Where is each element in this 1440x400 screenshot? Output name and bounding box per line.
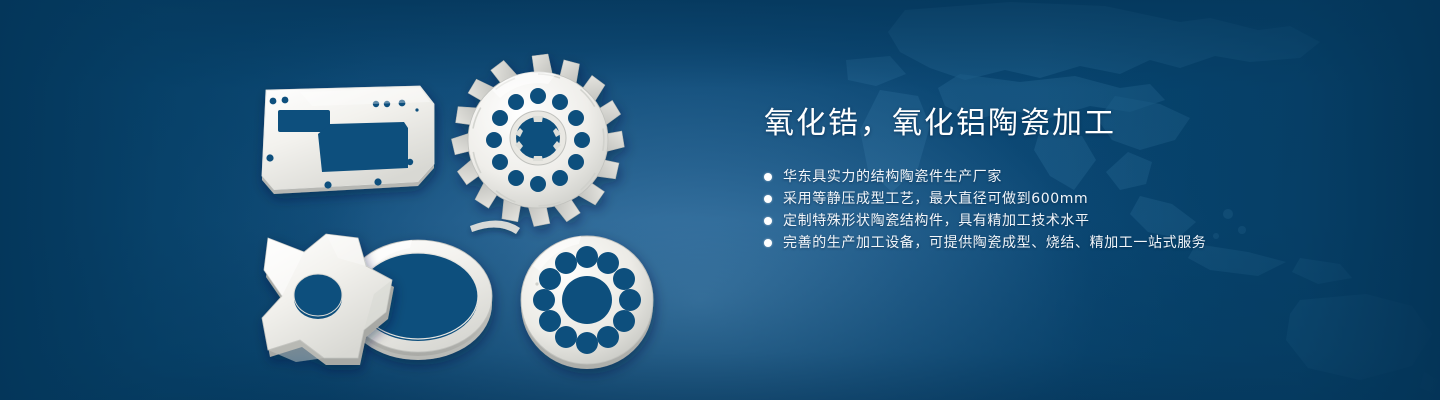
ceramic-ring-edge-accent <box>470 220 520 234</box>
list-item: 华东具实力的结构陶瓷件生产厂家 <box>764 166 1384 188</box>
ceramic-vaned-impeller <box>451 54 625 227</box>
feature-text: 定制特殊形状陶瓷结构件，具有精加工技术水平 <box>783 210 1090 232</box>
bullet-dot-icon <box>764 217 772 225</box>
list-item: 采用等静压成型工艺，最大直径可做到600mm <box>764 188 1384 210</box>
list-item: 完善的生产加工设备，可提供陶瓷成型、烧结、精加工一站式服务 <box>764 232 1384 254</box>
feature-list: 华东具实力的结构陶瓷件生产厂家 采用等静压成型工艺，最大直径可做到600mm 定… <box>764 166 1384 254</box>
banner-copy: 氧化锆，氧化铝陶瓷加工 华东具实力的结构陶瓷件生产厂家 采用等静压成型工艺，最大… <box>764 104 1384 254</box>
ceramic-plate-with-cutouts <box>262 86 434 194</box>
bullet-dot-icon <box>764 195 772 203</box>
bullet-dot-icon <box>764 173 772 181</box>
hero-banner: 氧化锆，氧化铝陶瓷加工 华东具实力的结构陶瓷件生产厂家 采用等静压成型工艺，最大… <box>0 0 1440 400</box>
ceramic-perforated-disc <box>521 236 653 369</box>
list-item: 定制特殊形状陶瓷结构件，具有精加工技术水平 <box>764 210 1384 232</box>
feature-text: 华东具实力的结构陶瓷件生产厂家 <box>783 166 1002 188</box>
feature-text: 完善的生产加工设备，可提供陶瓷成型、烧结、精加工一站式服务 <box>783 232 1206 254</box>
bullet-dot-icon <box>764 239 772 247</box>
product-image-group <box>0 0 700 400</box>
feature-text: 采用等静压成型工艺，最大直径可做到600mm <box>783 188 1088 210</box>
page-title: 氧化锆，氧化铝陶瓷加工 <box>764 104 1384 144</box>
